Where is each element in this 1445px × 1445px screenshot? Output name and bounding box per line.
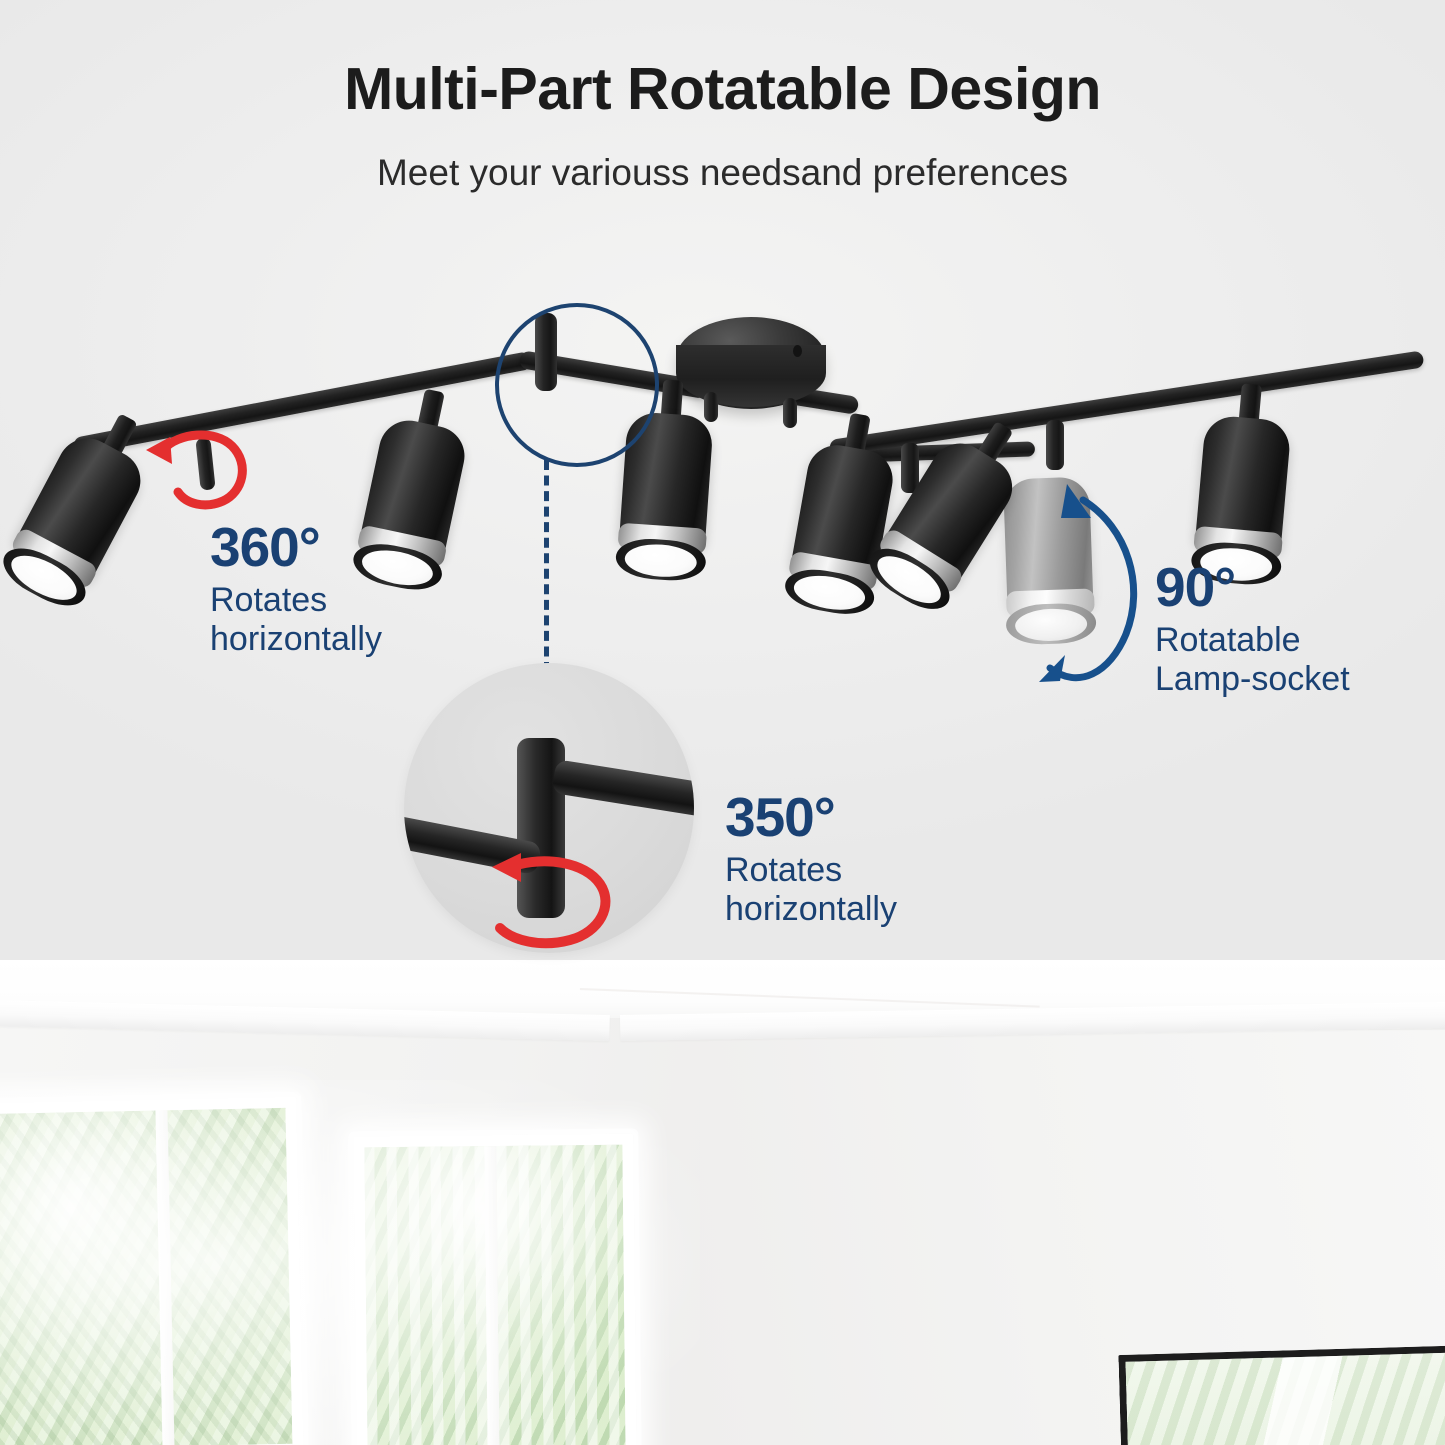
annotation-90-degrees: 90°	[1155, 560, 1350, 615]
lamp-head-1	[0, 428, 151, 614]
track-light-fixture	[0, 0, 1445, 1010]
lamp-head-4	[784, 441, 897, 618]
canopy-drop-post-right	[783, 398, 797, 428]
annotation-350: 350° Rotates horizontally	[725, 790, 897, 930]
track-bar-right-upper	[829, 350, 1425, 457]
annotation-360-degrees: 360°	[210, 520, 382, 575]
wall-mirror	[1118, 1345, 1445, 1445]
detail-highlight-circle	[495, 303, 659, 467]
annotation-350-degrees: 350°	[725, 790, 897, 845]
track-jog-post-right	[1046, 420, 1064, 470]
magnified-bar-right	[551, 759, 694, 818]
canopy-screw	[793, 345, 802, 357]
annotation-350-caption: Rotates horizontally	[725, 851, 897, 930]
window-right	[353, 1134, 636, 1445]
lamp-head-5-ghost	[1003, 476, 1095, 644]
window-left-glass	[0, 1108, 293, 1445]
annotation-360: 360° Rotates horizontally	[210, 520, 382, 660]
annotation-360-caption: Rotates horizontally	[210, 581, 382, 660]
annotation-90-caption: Rotatable Lamp-socket	[1155, 621, 1350, 700]
infographic-stage: Multi-Part Rotatable Design Meet your va…	[0, 0, 1445, 1445]
detail-magnifier-circle	[404, 663, 694, 953]
detail-connector-dashed-line	[544, 460, 549, 672]
annotation-90: 90° Rotatable Lamp-socket	[1155, 560, 1350, 700]
swivel-pin-360	[195, 437, 215, 490]
window-left	[0, 1097, 304, 1445]
